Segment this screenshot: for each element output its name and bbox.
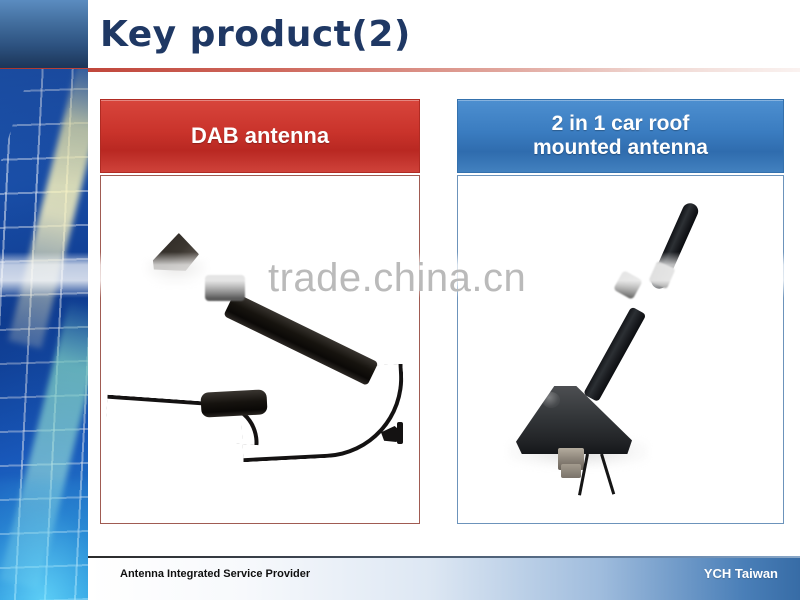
dab-connector-tail [397,422,403,444]
footer-brand: YCH Taiwan [704,566,778,581]
footer-divider [88,556,800,558]
product-image-dab [100,175,420,524]
product-card-header-2in1-line2: mounted antenna [533,136,708,160]
slide-canvas: Key product(2) DAB antenna [0,0,800,600]
roof-mast-lower-collar [613,270,643,300]
product-card-dab-antenna[interactable]: DAB antenna [100,99,420,524]
decorative-side-panel [0,69,88,600]
footer-tagline: Antenna Integrated Service Provider [120,568,310,580]
roof-antenna-illustration [458,176,783,523]
dab-inline-ferrite [200,389,267,417]
dab-antenna-illustration [101,176,419,523]
product-card-2-in-1-roof-antenna[interactable]: 2 in 1 car roof mounted antenna [457,99,784,524]
roof-base-highlight [542,392,560,408]
page-title: Key product(2) [100,14,411,55]
roof-antenna-base [516,386,632,454]
product-image-2in1 [457,175,784,524]
product-card-header-dab: DAB antenna [100,99,420,173]
title-divider [0,68,800,72]
header-corner-block [0,0,88,69]
product-card-header-2in1-line1: 2 in 1 car roof [533,112,708,136]
panel-shading [0,69,88,600]
roof-mounting-nut-lower [561,464,581,478]
dab-blade-cap [205,275,245,301]
product-card-header-2in1: 2 in 1 car roof mounted antenna [457,99,784,173]
roof-mast-lower-section [583,306,646,402]
